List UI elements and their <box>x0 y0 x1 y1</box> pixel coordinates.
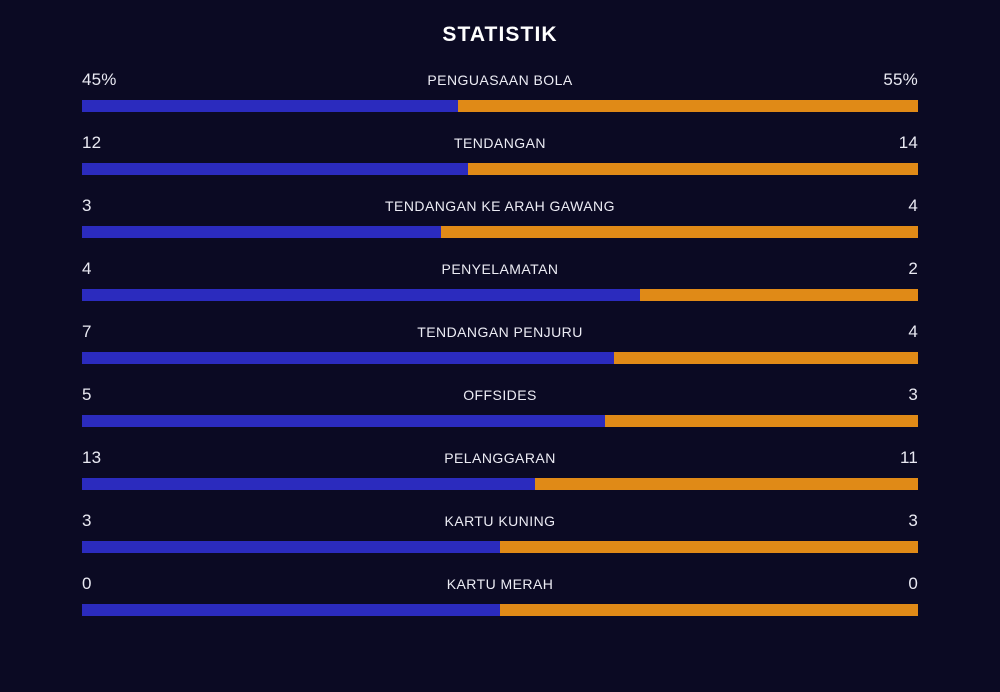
stat-label: PENGUASAAN BOLA <box>117 69 884 91</box>
stat-away-value: 14 <box>884 132 918 154</box>
stat-bar <box>82 415 918 427</box>
stat-bar <box>82 541 918 553</box>
stat-row: 3TENDANGAN KE ARAH GAWANG4 <box>82 192 918 255</box>
stat-row: 12TENDANGAN14 <box>82 129 918 192</box>
stat-label: KARTU MERAH <box>116 573 884 595</box>
stat-bar <box>82 100 918 112</box>
stat-row: 45%PENGUASAAN BOLA55% <box>82 66 918 129</box>
statistics-rows: 45%PENGUASAAN BOLA55%12TENDANGAN143TENDA… <box>0 66 1000 633</box>
stat-label: TENDANGAN <box>116 132 884 154</box>
stat-bar-away-segment <box>500 541 918 553</box>
stat-away-value: 11 <box>884 447 918 469</box>
stat-away-value: 2 <box>884 258 918 280</box>
stat-row-labels: 4PENYELAMATAN2 <box>82 255 918 289</box>
stat-bar-away-segment <box>614 352 918 364</box>
stat-bar-home-segment <box>82 100 458 112</box>
stat-bar-home-segment <box>82 478 535 490</box>
stat-bar-home-segment <box>82 541 500 553</box>
stat-bar <box>82 163 918 175</box>
stat-away-value: 4 <box>884 321 918 343</box>
stat-home-value: 0 <box>82 573 116 595</box>
stat-row: 3KARTU KUNING3 <box>82 507 918 570</box>
stat-bar-away-segment <box>535 478 918 490</box>
stat-bar-away-segment <box>468 163 918 175</box>
stat-label: OFFSIDES <box>116 384 884 406</box>
stat-away-value: 0 <box>884 573 918 595</box>
stat-home-value: 3 <box>82 195 116 217</box>
stat-row-labels: 12TENDANGAN14 <box>82 129 918 163</box>
stat-away-value: 55% <box>883 69 918 91</box>
stat-row-labels: 45%PENGUASAAN BOLA55% <box>82 66 918 100</box>
stat-home-value: 5 <box>82 384 116 406</box>
stat-home-value: 13 <box>82 447 116 469</box>
stat-bar <box>82 289 918 301</box>
stat-home-value: 45% <box>82 69 117 91</box>
stat-away-value: 3 <box>884 384 918 406</box>
stat-row: 13PELANGGARAN11 <box>82 444 918 507</box>
stat-home-value: 7 <box>82 321 116 343</box>
match-statistics-panel: STATISTIK 45%PENGUASAAN BOLA55%12TENDANG… <box>0 0 1000 692</box>
stat-bar-home-segment <box>82 415 605 427</box>
stat-home-value: 12 <box>82 132 116 154</box>
stat-bar-away-segment <box>605 415 919 427</box>
stat-row-labels: 13PELANGGARAN11 <box>82 444 918 478</box>
stat-label: TENDANGAN PENJURU <box>116 321 884 343</box>
stat-away-value: 3 <box>884 510 918 532</box>
stat-bar-home-segment <box>82 163 468 175</box>
stat-away-value: 4 <box>884 195 918 217</box>
stat-bar-home-segment <box>82 352 614 364</box>
stat-bar <box>82 604 918 616</box>
stat-bar-away-segment <box>640 289 918 301</box>
stat-bar <box>82 478 918 490</box>
stat-bar-home-segment <box>82 289 640 301</box>
stat-row-labels: 7TENDANGAN PENJURU4 <box>82 318 918 352</box>
stat-row-labels: 5OFFSIDES3 <box>82 381 918 415</box>
stat-row-labels: 3TENDANGAN KE ARAH GAWANG4 <box>82 192 918 226</box>
stat-bar-away-segment <box>458 100 918 112</box>
stat-row-labels: 0KARTU MERAH0 <box>82 570 918 604</box>
stat-row: 5OFFSIDES3 <box>82 381 918 444</box>
stat-label: TENDANGAN KE ARAH GAWANG <box>116 195 884 217</box>
page-title: STATISTIK <box>0 0 1000 48</box>
stat-row-labels: 3KARTU KUNING3 <box>82 507 918 541</box>
stat-home-value: 4 <box>82 258 116 280</box>
stat-bar <box>82 226 918 238</box>
stat-row: 7TENDANGAN PENJURU4 <box>82 318 918 381</box>
stat-bar <box>82 352 918 364</box>
stat-bar-home-segment <box>82 604 500 616</box>
stat-bar-away-segment <box>500 604 918 616</box>
stat-row: 4PENYELAMATAN2 <box>82 255 918 318</box>
stat-bar-home-segment <box>82 226 441 238</box>
stat-bar-away-segment <box>441 226 918 238</box>
stat-label: PENYELAMATAN <box>116 258 884 280</box>
stat-label: PELANGGARAN <box>116 447 884 469</box>
stat-row: 0KARTU MERAH0 <box>82 570 918 633</box>
stat-home-value: 3 <box>82 510 116 532</box>
stat-label: KARTU KUNING <box>116 510 884 532</box>
